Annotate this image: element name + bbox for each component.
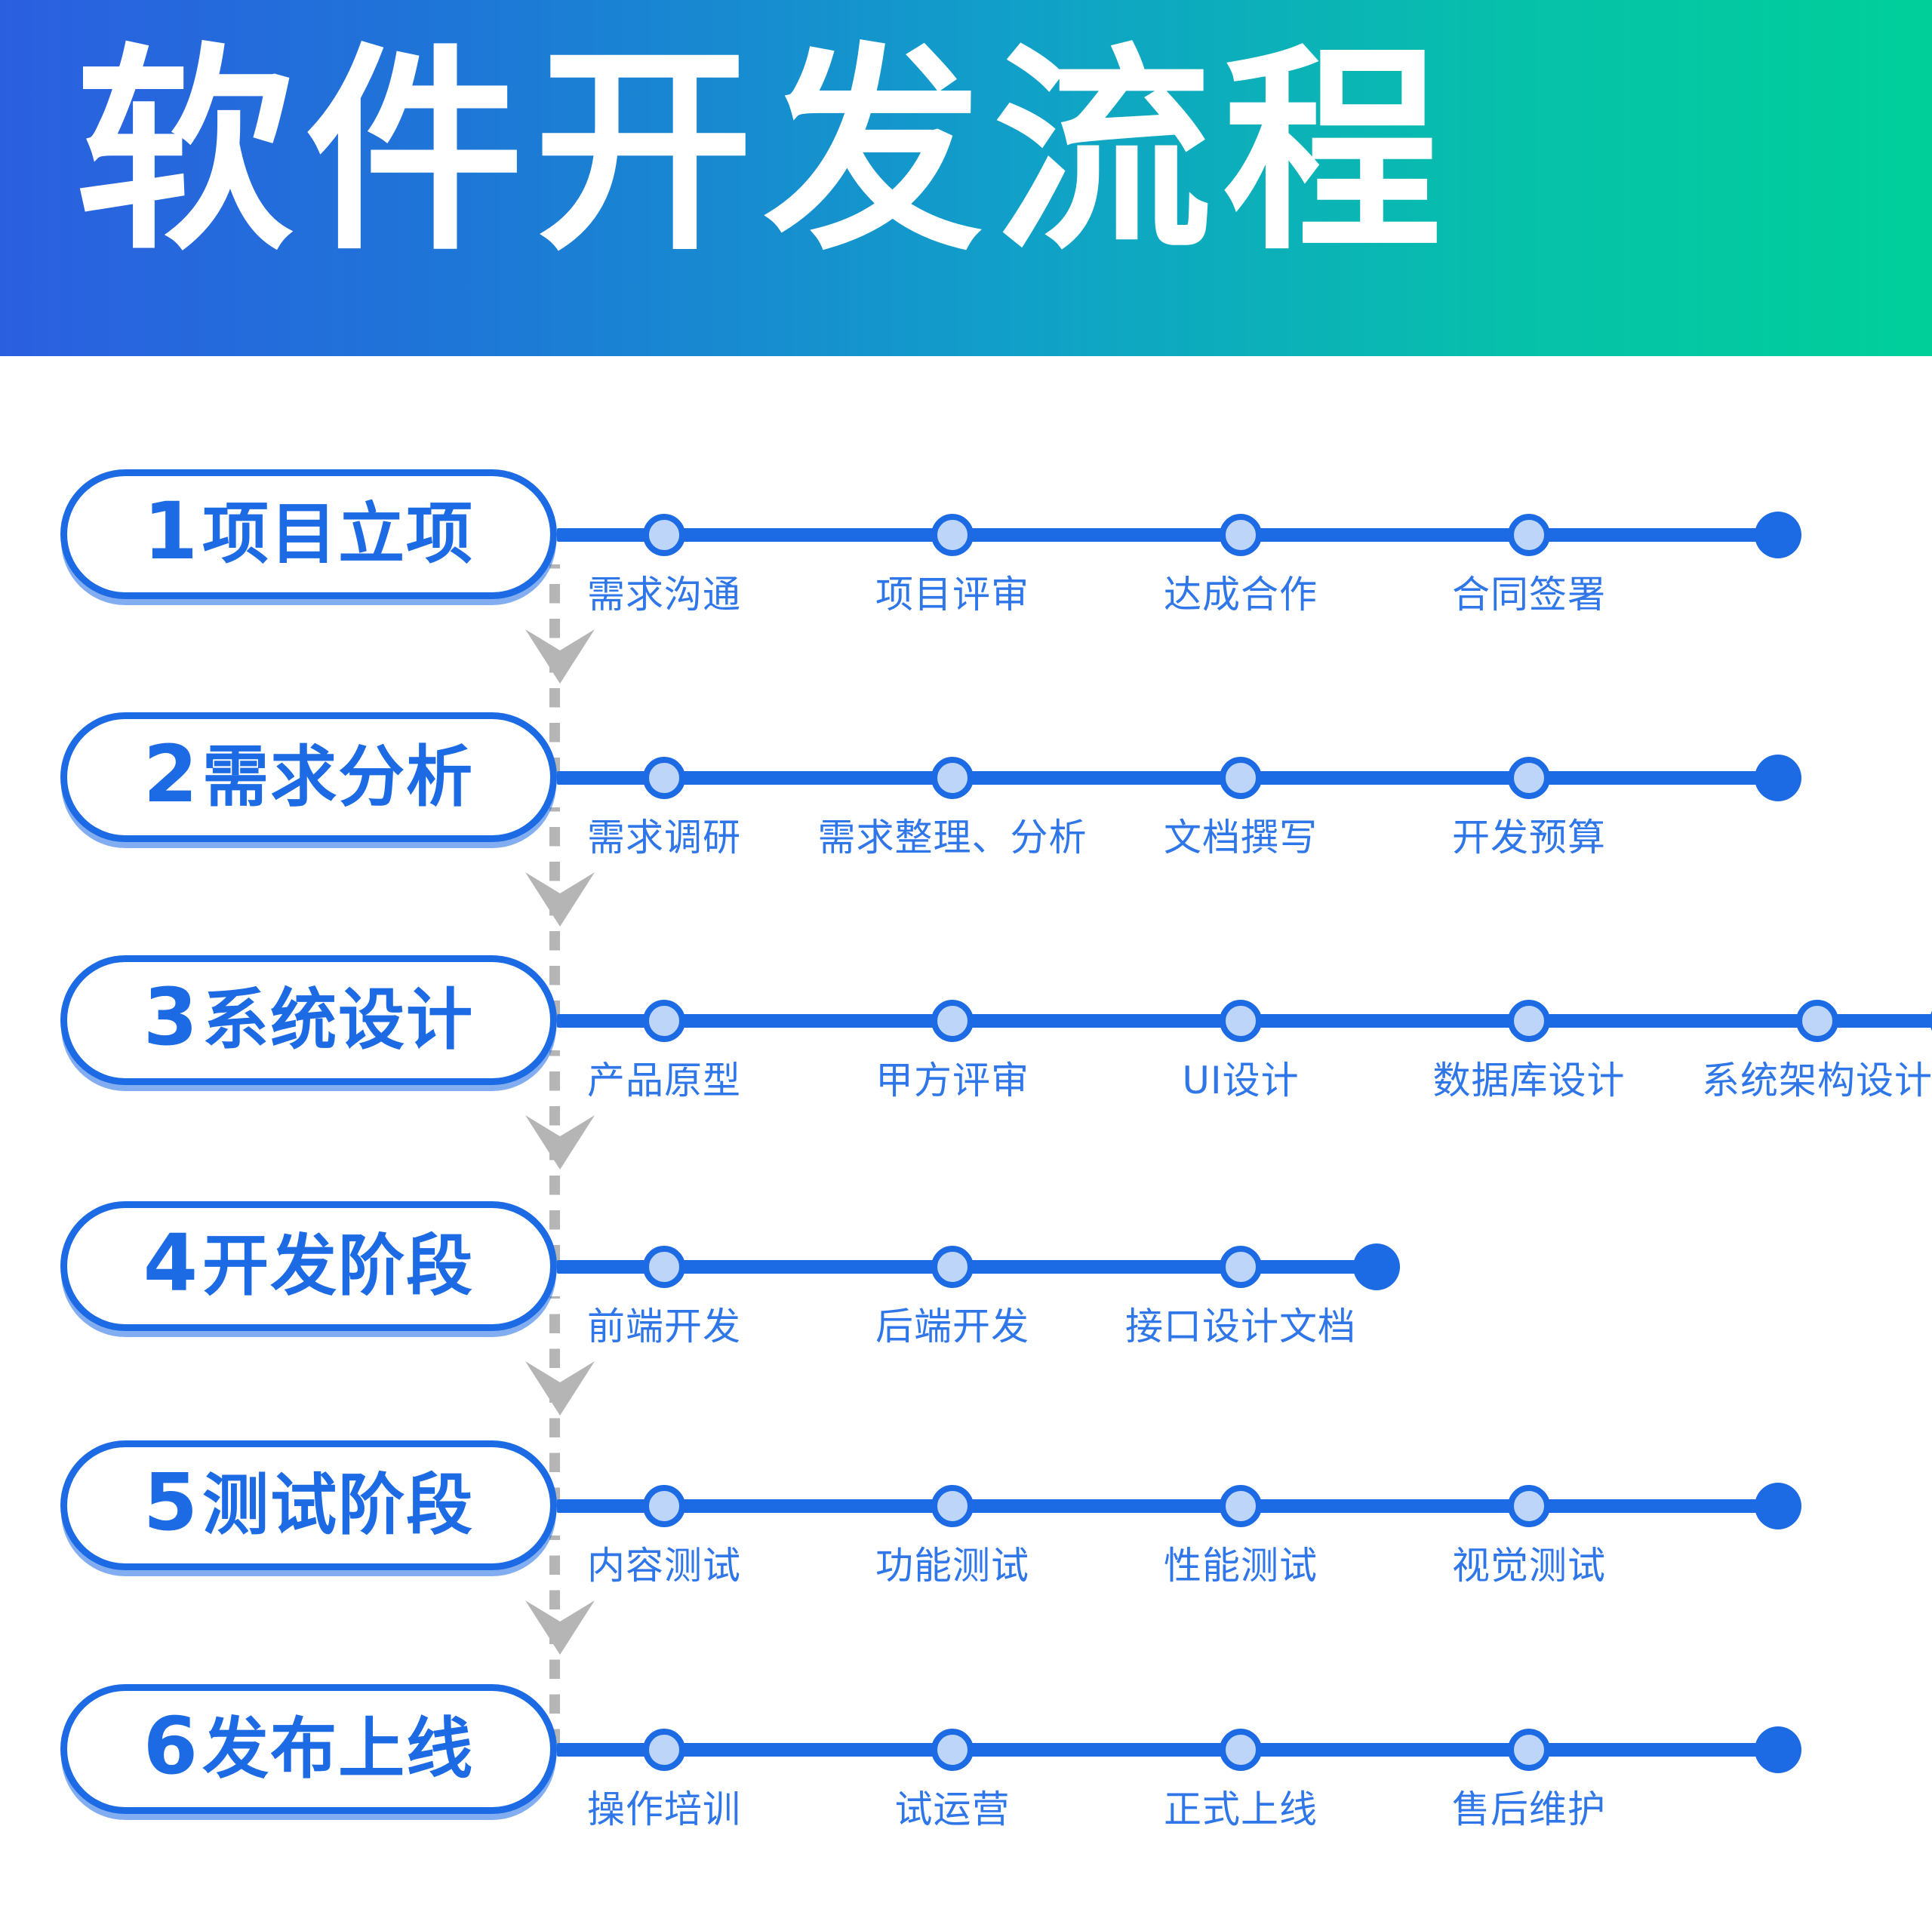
step-node[interactable] [931, 1246, 974, 1288]
step-label: 甲方评审 [875, 1050, 1029, 1105]
step-node[interactable] [931, 1485, 974, 1527]
step-node[interactable] [1508, 1729, 1550, 1771]
step-label: 项目评审 [875, 564, 1029, 619]
step-label: 后端开发 [875, 1296, 1029, 1351]
flow-stage-row: 4开发阶段前端开发后端开发接口设计文档 [0, 1201, 1932, 1390]
flowchart: 1项目立项需求沟通项目评审达成合作合同签署2需求分析需求调研需求整理、分析文档撰… [0, 356, 1932, 1909]
step-node[interactable] [1220, 1729, 1262, 1771]
step-node[interactable] [1508, 514, 1550, 556]
stage-end-node [1755, 512, 1801, 558]
stage-pill-3[interactable]: 3系统设计 [60, 955, 557, 1085]
stage-pill-1[interactable]: 1项目立项 [60, 469, 557, 599]
step-node[interactable] [1508, 1000, 1550, 1042]
step-label: 前端开发 [587, 1296, 741, 1351]
stage-number: 4 [143, 1224, 198, 1302]
step-label: 系统架构设计 [1702, 1050, 1932, 1105]
stage-title: 需求分析 [202, 744, 474, 810]
step-label: 正式上线 [1164, 1779, 1318, 1834]
stage-title: 测试阶段 [202, 1472, 474, 1539]
step-node[interactable] [643, 1729, 685, 1771]
step-node[interactable] [643, 1485, 685, 1527]
stage-number: 2 [143, 735, 198, 813]
stage-pill-6[interactable]: 6发布上线 [60, 1684, 557, 1814]
step-label: UI设计 [1182, 1050, 1299, 1105]
step-label: 售后维护 [1452, 1779, 1606, 1834]
flow-stage-row: 3系统设计产品原型甲方评审UI设计数据库设计系统架构设计 [0, 955, 1932, 1144]
stage-timeline-track [557, 771, 1778, 785]
header-banner: 软件开发流程 [0, 0, 1932, 356]
stage-timeline-track [557, 528, 1778, 542]
step-node[interactable] [1220, 757, 1262, 799]
page-title: 软件开发流程 [75, 44, 1452, 263]
stage-end-node [1353, 1243, 1400, 1290]
step-label: 操作培训 [587, 1779, 741, 1834]
step-node[interactable] [931, 1729, 974, 1771]
stage-timeline-track [557, 1743, 1778, 1757]
stage-title: 开发阶段 [202, 1233, 474, 1299]
step-label: 接口设计文档 [1125, 1296, 1356, 1351]
step-node[interactable] [1508, 757, 1550, 799]
stage-number: 5 [143, 1463, 198, 1542]
step-label: 数据库设计 [1433, 1050, 1626, 1105]
stage-pill-4[interactable]: 4开发阶段 [60, 1201, 557, 1331]
step-label: 内容测试 [587, 1535, 741, 1590]
step-label: 合同签署 [1452, 564, 1606, 619]
stage-number: 1 [143, 492, 198, 570]
stage-pill-2[interactable]: 2需求分析 [60, 712, 557, 842]
step-label: 达成合作 [1164, 564, 1318, 619]
stage-number: 6 [143, 1707, 198, 1785]
step-label: 性能测试 [1164, 1535, 1318, 1590]
stage-title: 发布上线 [202, 1716, 474, 1782]
stage-title: 系统设计 [202, 987, 474, 1053]
step-node[interactable] [1220, 1000, 1262, 1042]
step-node[interactable] [1796, 1000, 1838, 1042]
flow-stage-row: 5测试阶段内容测试功能测试性能测试视觉测试 [0, 1440, 1932, 1629]
step-node[interactable] [643, 757, 685, 799]
flow-stage-row: 1项目立项需求沟通项目评审达成合作合同签署 [0, 469, 1932, 658]
step-label: 需求沟通 [587, 564, 741, 619]
step-node[interactable] [643, 1246, 685, 1288]
step-node[interactable] [931, 757, 974, 799]
step-node[interactable] [931, 1000, 974, 1042]
stage-timeline-track [557, 1499, 1778, 1513]
step-node[interactable] [1220, 514, 1262, 556]
step-label: 产品原型 [587, 1050, 741, 1105]
flow-stage-row: 2需求分析需求调研需求整理、分析文档撰写开发预算 [0, 712, 1932, 901]
step-node[interactable] [1220, 1246, 1262, 1288]
step-node[interactable] [1508, 1485, 1550, 1527]
step-label: 文档撰写 [1164, 807, 1318, 862]
step-node[interactable] [643, 514, 685, 556]
stage-number: 3 [143, 978, 198, 1056]
step-label: 开发预算 [1452, 807, 1606, 862]
flow-stage-row: 6发布上线操作培训试运营正式上线售后维护 [0, 1684, 1932, 1873]
stage-end-node [1755, 755, 1801, 801]
step-node[interactable] [643, 1000, 685, 1042]
step-node[interactable] [1220, 1485, 1262, 1527]
stage-end-node [1755, 1726, 1801, 1773]
step-label: 功能测试 [875, 1535, 1029, 1590]
stage-end-node [1755, 1483, 1801, 1529]
step-label: 视觉测试 [1452, 1535, 1606, 1590]
stage-pill-5[interactable]: 5测试阶段 [60, 1440, 557, 1570]
step-label: 需求调研 [587, 807, 741, 862]
step-node[interactable] [931, 514, 974, 556]
stage-title: 项目立项 [202, 501, 474, 567]
step-label: 需求整理、分析 [818, 807, 1088, 862]
step-label: 试运营 [895, 1779, 1011, 1834]
